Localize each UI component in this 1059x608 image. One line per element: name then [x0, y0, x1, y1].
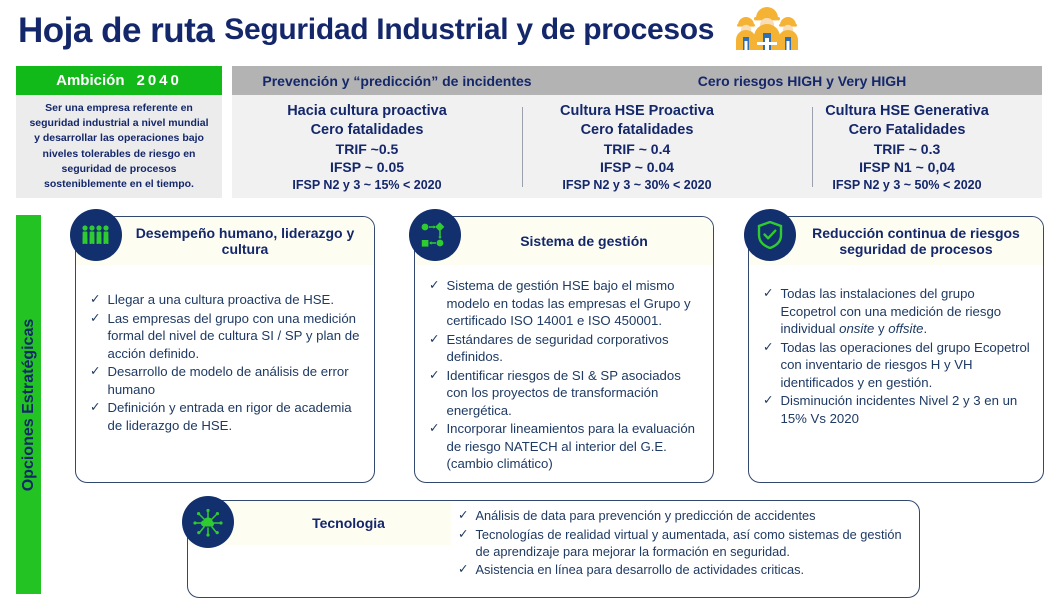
list-item: ✓Incorporar lineamientos para la evaluac… — [429, 420, 703, 473]
strategy-card-risk-reduction: Reducción continua de riesgos seguridad … — [748, 216, 1044, 483]
ambicion-header: Ambición 2040 — [16, 66, 222, 95]
slide-canvas: Hoja de ruta Seguridad Industrial y de p… — [0, 0, 1059, 608]
title-subtitle-text: Seguridad Industrial y de procesos — [224, 15, 714, 45]
bullet-text: Identificar riesgos de SI & SP asociados… — [446, 367, 703, 420]
ambicion-body-text: Ser una empresa referente en seguridad i… — [16, 95, 222, 198]
milestones-strip: Prevención y “predicción” de incidentes … — [232, 66, 1042, 198]
strip-col2-line3: TRIF ~ 0.4 — [604, 140, 671, 158]
strip-column-1: Hacia cultura proactiva Cero fatalidades… — [232, 95, 502, 198]
list-item: ✓Las empresas del grupo con una medición… — [90, 310, 364, 363]
bullet-text: Análisis de data para prevención y predi… — [475, 507, 907, 524]
strip-header-1: Prevención y “predicción” de incidentes — [232, 66, 562, 95]
strip-col1-line4: IFSP ~ 0.05 — [330, 158, 404, 176]
check-icon: ✓ — [90, 291, 100, 309]
opciones-estrategicas-label: Opciones Estratégicas — [20, 318, 38, 491]
card3-body: ✓Todas las instalaciones del grupo Ecope… — [749, 265, 1043, 427]
strip-col1-line1: Hacia cultura proactiva — [287, 102, 447, 121]
bullet-text: Definición y entrada en rigor de academi… — [107, 399, 364, 434]
strip-col2-line4: IFSP ~ 0.04 — [600, 158, 674, 176]
card3-bullet-list: ✓Todas las instalaciones del grupo Ecope… — [763, 285, 1033, 427]
strategy-card-human-performance: Desempeño humano, liderazgo y cultura ✓L… — [75, 216, 375, 483]
people-group-icon — [70, 209, 122, 261]
check-icon: ✓ — [429, 420, 439, 438]
title-main-text: Hoja de ruta — [18, 13, 214, 48]
list-item: ✓Tecnologías de realidad virtual y aumen… — [458, 526, 907, 561]
check-icon: ✓ — [429, 331, 439, 349]
strip-col3-line1: Cultura HSE Generativa — [825, 102, 989, 121]
bullet-text: Llegar a una cultura proactiva de HSE. — [107, 291, 364, 309]
strip-col2-line2: Cero fatalidades — [581, 121, 694, 140]
workflow-diagram-icon — [409, 209, 461, 261]
strip-col3-line4: IFSP N1 ~ 0,04 — [859, 158, 955, 176]
list-item: ✓Todas las instalaciones del grupo Ecope… — [763, 285, 1033, 338]
ambicion-label: Ambición — [56, 72, 124, 89]
strategy-card-technology: Tecnologia ✓Análisis de data para preven… — [187, 500, 920, 598]
bullet-text: Todas las operaciones del grupo Ecopetro… — [780, 339, 1033, 392]
strip-divider-1 — [522, 107, 523, 187]
check-icon: ✓ — [429, 367, 439, 385]
check-icon: ✓ — [458, 507, 468, 525]
card4-bullet-list: ✓Análisis de data para prevención y pred… — [458, 507, 907, 579]
bullet-text: Asistencia en línea para desarrollo de a… — [475, 561, 907, 578]
strip-col1-line3: TRIF ~0.5 — [336, 140, 399, 158]
milestones-strip-header: Prevención y “predicción” de incidentes … — [232, 66, 1042, 95]
strip-col1-line5: IFSP N2 y 3 ~ 15% < 2020 — [292, 177, 441, 194]
check-icon: ✓ — [763, 339, 773, 357]
page-title: Hoja de ruta Seguridad Industrial y de p… — [18, 4, 1038, 56]
opciones-estrategicas-bar: Opciones Estratégicas — [16, 215, 41, 594]
strip-divider-2 — [812, 107, 813, 187]
bullet-text: Incorporar lineamientos para la evaluaci… — [446, 420, 703, 473]
bullet-text: Desarrollo de modelo de análisis de erro… — [107, 363, 364, 398]
list-item: ✓Llegar a una cultura proactiva de HSE. — [90, 291, 364, 309]
list-item: ✓Estándares de seguridad corporativos de… — [429, 331, 703, 366]
list-item: ✓Asistencia en línea para desarrollo de … — [458, 561, 907, 579]
strip-col3-line5: IFSP N2 y 3 ~ 50% < 2020 — [832, 177, 981, 194]
bullet-text: Tecnologías de realidad virtual y aument… — [475, 526, 907, 561]
bullet-text: Todas las instalaciones del grupo Ecopet… — [780, 285, 1033, 338]
strip-col2-line5: IFSP N2 y 3 ~ 30% < 2020 — [562, 177, 711, 194]
list-item: ✓Disminución incidentes Nivel 2 y 3 en u… — [763, 392, 1033, 427]
milestones-strip-body: Hacia cultura proactiva Cero fatalidades… — [232, 95, 1042, 198]
card2-body: ✓Sistema de gestión HSE bajo el mismo mo… — [415, 265, 713, 473]
list-item: ✓Análisis de data para prevención y pred… — [458, 507, 907, 525]
strip-header-2: Cero riesgos HIGH y Very HIGH — [562, 66, 1042, 95]
strategy-card-management-system: Sistema de gestión ✓Sistema de gestión H… — [414, 216, 714, 483]
ambicion-panel: Ambición 2040 Ser una empresa referente … — [16, 66, 222, 198]
card1-bullet-list: ✓Llegar a una cultura proactiva de HSE. … — [90, 291, 364, 434]
card2-bullet-list: ✓Sistema de gestión HSE bajo el mismo mo… — [429, 277, 703, 473]
check-icon: ✓ — [763, 285, 773, 303]
shield-check-icon — [744, 209, 796, 261]
strip-col3-line3: TRIF ~ 0.3 — [874, 140, 941, 158]
check-icon: ✓ — [90, 310, 100, 328]
three-workers-icon — [732, 5, 802, 56]
list-item: ✓Todas las operaciones del grupo Ecopetr… — [763, 339, 1033, 392]
card1-body: ✓Llegar a una cultura proactiva de HSE. … — [76, 265, 374, 434]
cloud-network-icon — [182, 496, 234, 548]
check-icon: ✓ — [90, 363, 100, 381]
ambicion-year: 2040 — [136, 72, 181, 89]
check-icon: ✓ — [458, 561, 468, 579]
check-icon: ✓ — [90, 399, 100, 417]
card4-body: ✓Análisis de data para prevención y pred… — [458, 507, 913, 580]
list-item: ✓Sistema de gestión HSE bajo el mismo mo… — [429, 277, 703, 330]
bullet-text: Sistema de gestión HSE bajo el mismo mod… — [446, 277, 703, 330]
check-icon: ✓ — [458, 526, 468, 544]
list-item: ✓Desarrollo de modelo de análisis de err… — [90, 363, 364, 398]
bullet-text: Las empresas del grupo con una medición … — [107, 310, 364, 363]
strip-col3-line2: Cero Fatalidades — [849, 121, 966, 140]
strip-col2-line1: Cultura HSE Proactiva — [560, 102, 714, 121]
check-icon: ✓ — [763, 392, 773, 410]
strip-column-2: Cultura HSE Proactiva Cero fatalidades T… — [502, 95, 772, 198]
bullet-text: Estándares de seguridad corporativos def… — [446, 331, 703, 366]
list-item: ✓Identificar riesgos de SI & SP asociado… — [429, 367, 703, 420]
bullet-text: Disminución incidentes Nivel 2 y 3 en un… — [780, 392, 1033, 427]
strip-col1-line2: Cero fatalidades — [311, 121, 424, 140]
list-item: ✓Definición y entrada en rigor de academ… — [90, 399, 364, 434]
check-icon: ✓ — [429, 277, 439, 295]
